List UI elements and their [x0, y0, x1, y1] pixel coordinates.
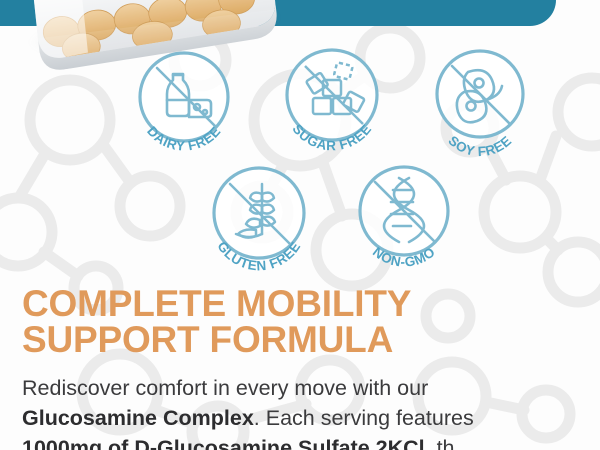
page-title: COMPLETE MOBILITY SUPPORT FORMULA — [22, 286, 578, 359]
body-line-3: 1000mg of D-Glucosamine Sulfate 2KCl, th — [22, 433, 578, 450]
body-line-2: Glucosamine Complex. Each serving featur… — [22, 403, 578, 433]
badge-non-gmo: NON-GMO — [351, 158, 457, 280]
body-line-3-bold: 1000mg of D-Glucosamine Sulfate 2KCl — [22, 436, 425, 450]
body-line-3-rest: , th — [425, 436, 455, 450]
body-line-1: Rediscover comfort in every move with ou… — [22, 373, 578, 403]
body-paragraph: Rediscover comfort in every move with ou… — [22, 373, 578, 450]
badge-dairy-free: DAIRY FREE — [131, 44, 237, 164]
body-line-2-bold: Glucosamine Complex — [22, 406, 254, 430]
badge-gluten-free: GLUTEN FREE — [204, 160, 314, 282]
copy-block: COMPLETE MOBILITY SUPPORT FORMULA Redisc… — [22, 286, 578, 450]
body-line-2-rest: . Each serving features — [254, 406, 474, 430]
infographic-page: DAIRY FREE SUGAR FREE — [0, 0, 600, 450]
badge-soy-free: SOY FREE — [428, 42, 532, 162]
badge-sugar-free: SUGAR FREE — [277, 40, 387, 162]
